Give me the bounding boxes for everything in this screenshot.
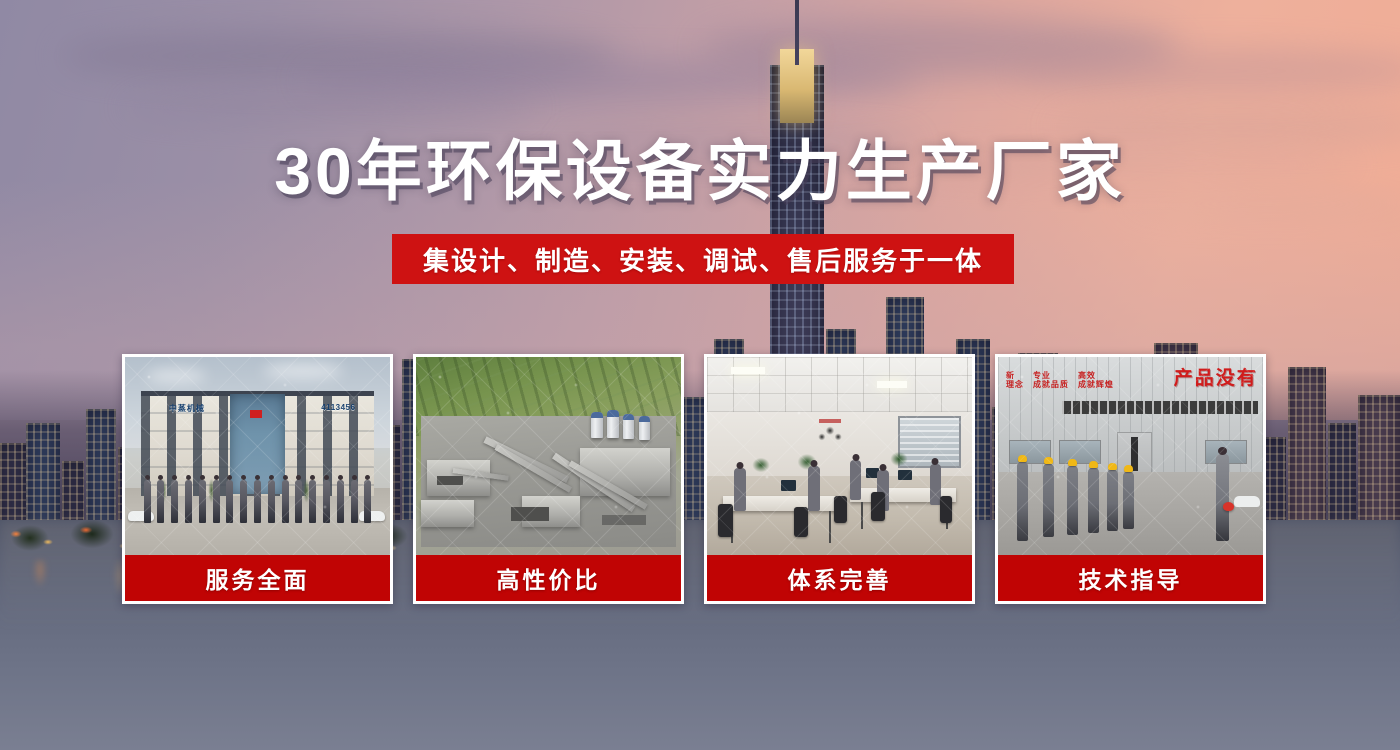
- photo-staff-member: [185, 480, 192, 524]
- photo-base: 中蒸机械 4113456: [125, 357, 390, 555]
- building-sign-text: 中蒸机械: [169, 403, 205, 414]
- photo-worker: [1107, 470, 1118, 531]
- cloud: [120, 92, 540, 122]
- slogan-bottom: 成就辉煌: [1078, 380, 1114, 389]
- slogan-bottom: 成就品质: [1033, 380, 1069, 389]
- photo-silo: [639, 416, 650, 440]
- card-photo-plant-aerial: [416, 357, 681, 555]
- photo-worker: [1017, 462, 1028, 541]
- photo-base: [416, 357, 681, 555]
- photo-silo: [623, 414, 634, 439]
- slogan-top: 专业: [1033, 371, 1069, 380]
- photo-car: [1234, 496, 1260, 507]
- feature-card[interactable]: 中蒸机械 4113456 服务全面: [122, 354, 393, 604]
- photo-person: [808, 466, 820, 512]
- feature-card[interactable]: 高性价比: [413, 354, 684, 604]
- photo-staff-member: [364, 480, 371, 524]
- photo-desk-leg: [829, 511, 831, 543]
- photo-plant: [887, 450, 911, 470]
- photo-wall-vent-strip: [1062, 401, 1258, 415]
- photo-person: [930, 464, 941, 506]
- slogan-top: 高效: [1078, 371, 1114, 380]
- photo-monitor: [898, 470, 912, 480]
- photo-staff-member: [226, 480, 233, 524]
- photo-silo: [607, 410, 619, 438]
- feature-card-row: 中蒸机械 4113456 服务全面: [122, 354, 1277, 604]
- photo-chair: [871, 492, 885, 522]
- hero-banner: 30年环保设备实力生产厂家 集设计、制造、安装、调试、售后服务于一体 中蒸机械: [0, 0, 1400, 750]
- photo-staff-member: [282, 480, 289, 524]
- photo-staff-member: [295, 480, 302, 524]
- photo-worker: [1123, 472, 1134, 529]
- photo-desk-leg: [861, 502, 863, 530]
- card-caption: 技术指导: [998, 555, 1263, 601]
- photo-base: [707, 357, 972, 555]
- photo-ceiling-lamp: [731, 367, 765, 374]
- photo-staff-member: [323, 480, 330, 524]
- photo-shed: [580, 448, 670, 496]
- photo-staff-member: [213, 480, 220, 524]
- photo-shed: [421, 500, 474, 528]
- card-photo-office-interior: [707, 357, 972, 555]
- slogan-top: 新: [1006, 371, 1024, 380]
- skyline-building: [1358, 395, 1400, 535]
- photo-staff-member: [268, 480, 275, 524]
- photo-staff-member: [254, 480, 261, 524]
- photo-chair: [834, 496, 847, 524]
- card-caption: 体系完善: [707, 555, 972, 601]
- feature-card[interactable]: 产品没有 新 理念 专业 成就品质 高效 成就辉煌: [995, 354, 1266, 604]
- photo-person: [734, 468, 746, 512]
- photo-plant: [749, 456, 773, 476]
- photo-cloud: [263, 363, 343, 379]
- building-phone-text: 4113456: [321, 403, 355, 412]
- photo-person: [850, 460, 861, 500]
- photo-silo: [591, 412, 603, 438]
- photo-staff-member: [144, 480, 151, 524]
- photo-staff-member: [309, 480, 316, 524]
- photo-staff-member: [157, 480, 164, 524]
- photo-staff-member: [351, 480, 358, 524]
- photo-wall-logo: [813, 422, 847, 446]
- photo-staff-member: [240, 480, 247, 524]
- photo-structure: [511, 507, 549, 521]
- subtitle-text: 集设计、制造、安装、调试、售后服务于一体: [423, 241, 983, 278]
- factory-slogan: 新 理念: [1006, 371, 1024, 389]
- photo-worker: [1067, 466, 1078, 535]
- slogan-bottom: 理念: [1006, 380, 1024, 389]
- photo-worker: [1043, 464, 1054, 537]
- feature-card[interactable]: 体系完善: [704, 354, 975, 604]
- photo-factory-door: [1117, 432, 1151, 476]
- photo-structure: [602, 515, 646, 525]
- photo-monitor: [781, 480, 796, 491]
- skyline-building: [1328, 423, 1356, 535]
- page-title: 30年环保设备实力生产厂家: [0, 133, 1400, 209]
- subtitle-banner: 集设计、制造、安装、调试、售后服务于一体: [392, 234, 1014, 284]
- photo-chair: [718, 504, 733, 538]
- photo-chair: [794, 507, 808, 537]
- tower-spire: [795, 0, 799, 65]
- factory-wall-banner-text: 产品没有: [1174, 363, 1258, 390]
- photo-cloud: [146, 369, 206, 383]
- photo-worker: [1088, 468, 1099, 533]
- photo-supervisor: [1216, 454, 1229, 541]
- photo-flag: [250, 410, 262, 418]
- photo-chair: [940, 496, 952, 524]
- card-caption: 服务全面: [125, 555, 390, 601]
- card-photo-workers-training: 产品没有 新 理念 专业 成就品质 高效 成就辉煌: [998, 357, 1263, 555]
- factory-wall-slogans: 新 理念 专业 成就品质 高效 成就辉煌: [1006, 371, 1114, 389]
- skyline-building: [1288, 367, 1326, 535]
- card-photo-office-building: 中蒸机械 4113456: [125, 357, 390, 555]
- photo-staff-row: [144, 480, 372, 524]
- factory-slogan: 专业 成就品质: [1033, 371, 1069, 389]
- factory-slogan: 高效 成就辉煌: [1078, 371, 1114, 389]
- photo-base: 产品没有 新 理念 专业 成就品质 高效 成就辉煌: [998, 357, 1263, 555]
- photo-ceiling-lamp: [877, 381, 907, 388]
- card-caption: 高性价比: [416, 555, 681, 601]
- photo-staff-member: [337, 480, 344, 524]
- photo-staff-member: [171, 480, 178, 524]
- photo-structure: [437, 476, 463, 485]
- photo-staff-member: [199, 480, 206, 524]
